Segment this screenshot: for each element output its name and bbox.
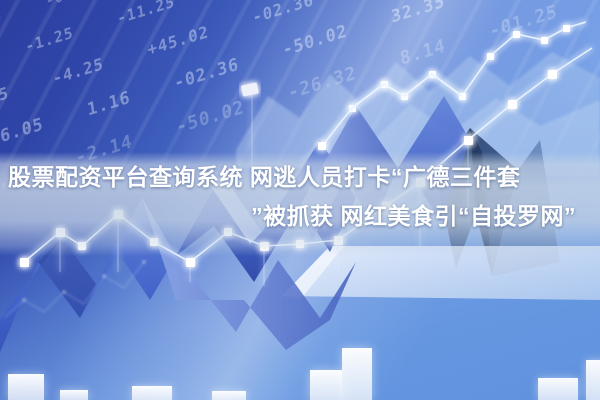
bar-1 [8,374,44,400]
page-title: 股票配资平台查询系统 网逃人员打卡“广德三件套 ”被抓获 网红美食引“自投罗网” [0,158,600,236]
bar-5 [310,370,342,400]
banner-image: -06.05-02.3521.0545.02-06.05-02.3521.054… [0,0,600,400]
headline-line-1: 股票配资平台查询系统 网逃人员打卡“广德三件套 [8,158,592,197]
bar-3 [132,386,172,400]
bar-6 [342,348,372,400]
bar-4 [212,391,246,400]
bar-8 [586,360,600,400]
headline-line-2: ”被抓获 网红美食引“自投罗网” [8,197,592,236]
bar-7 [538,378,578,400]
bar-2 [60,390,88,400]
